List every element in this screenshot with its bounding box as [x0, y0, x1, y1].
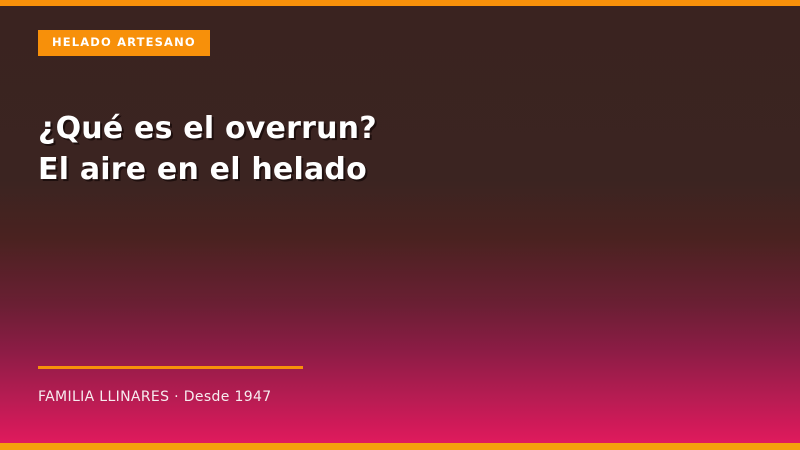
top-accent-bar	[0, 0, 800, 6]
footer-attribution: FAMILIA LLINARES · Desde 1947	[38, 389, 458, 406]
slide-footer: FAMILIA LLINARES · Desde 1947	[38, 366, 458, 406]
page-title: ¿Qué es el overrun? El aire en el helado	[38, 108, 738, 190]
eyebrow-badge: HELADO ARTESANO	[38, 30, 210, 56]
footer-divider	[38, 366, 303, 369]
title-slide: HELADO ARTESANO ¿Qué es el overrun? El a…	[0, 0, 800, 450]
eyebrow-badge-label: HELADO ARTESANO	[52, 37, 196, 49]
page-title-line-2: El aire en el helado	[38, 149, 738, 190]
bottom-accent-bar	[0, 443, 800, 450]
page-title-line-1: ¿Qué es el overrun?	[38, 108, 738, 149]
